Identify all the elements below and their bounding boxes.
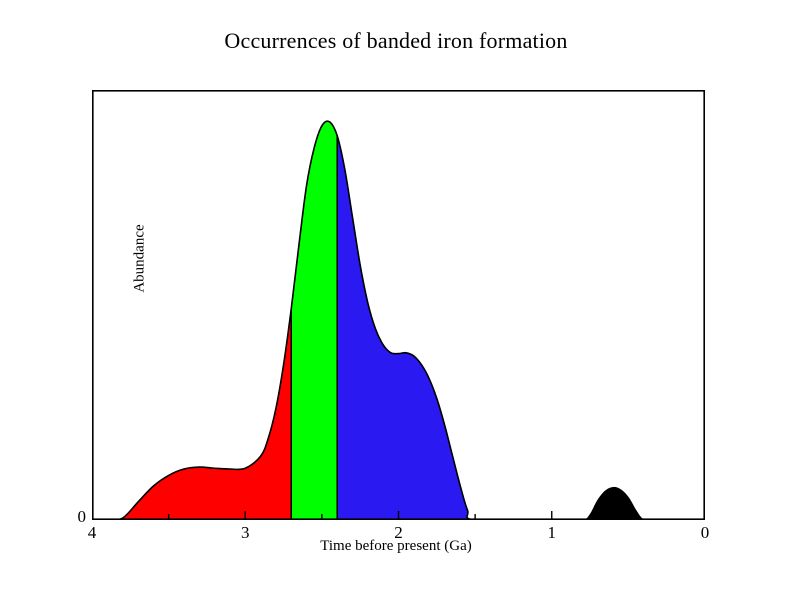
- plot-area: Abundance: [92, 90, 705, 520]
- chart-title: Occurrences of banded iron formation: [0, 28, 792, 54]
- x-axis-label: Time before present (Ga): [0, 538, 792, 555]
- y-tick-label: 0: [56, 507, 86, 527]
- chart-figure: Occurrences of banded iron formation Abu: [0, 0, 792, 612]
- plot-svg: [92, 90, 705, 520]
- y-axis-label: Abundance: [132, 189, 149, 329]
